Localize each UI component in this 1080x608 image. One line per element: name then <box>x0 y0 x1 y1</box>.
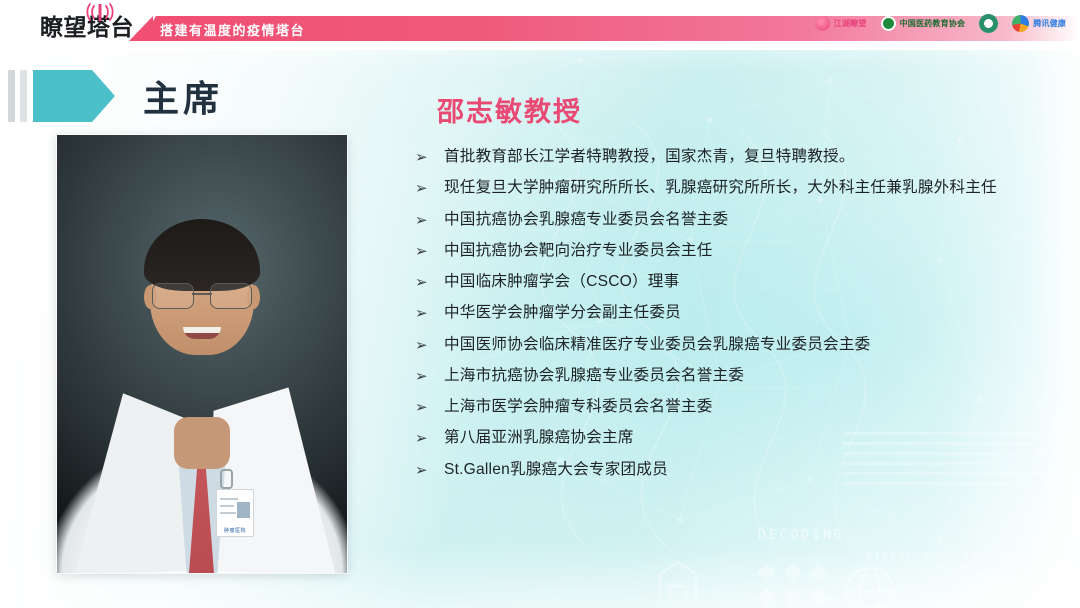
list-item: ➢ 中国抗癌协会乳腺癌专业委员会名誉主委 <box>415 209 1055 232</box>
list-item-label: 现任复旦大学肿瘤研究所所长、乳腺癌研究所所长，大外科主任兼乳腺外科主任 <box>444 177 997 200</box>
list-item: ➢ 中国临床肿瘤学会（CSCO）理事 <box>415 271 1055 294</box>
list-item-label: 中华医学会肿瘤学分会副主任委员 <box>444 302 681 325</box>
list-item: ➢ 现任复旦大学肿瘤研究所所长、乳腺癌研究所所长，大外科主任兼乳腺外科主任 <box>415 177 1055 200</box>
list-item: ➢ 中国抗癌协会靶向治疗专业委员会主任 <box>415 240 1055 263</box>
badge-photo <box>237 502 250 518</box>
bullet-arrow-icon: ➢ <box>415 209 444 232</box>
partner-logo-jianghu-label: 江湖瞭望 <box>834 18 867 29</box>
badge-hospital-name: 肿瘤医院 <box>217 527 253 534</box>
badge-line-3 <box>220 512 236 514</box>
photo-pen-clip <box>220 469 233 489</box>
speaker-name: 邵志敏教授 <box>437 90 582 129</box>
eyeglass-bridge <box>192 293 212 295</box>
list-item-label: 第八届亚洲乳腺癌协会主席 <box>444 427 634 450</box>
bullet-arrow-icon: ➢ <box>415 427 444 450</box>
bullet-arrow-icon: ➢ <box>415 302 444 325</box>
list-item-label: 中国抗癌协会乳腺癌专业委员会名誉主委 <box>444 209 728 232</box>
badge-line-2 <box>220 505 234 507</box>
header-banner-text: 搭建有温度的疫情塔台 <box>160 20 305 39</box>
list-item: ➢ 首批教育部长江学者特聘教授，国家杰青，复旦特聘教授。 <box>415 146 1055 169</box>
list-item: ➢ 中国医师协会临床精准医疗专业委员会乳腺癌专业委员会主委 <box>415 334 1055 357</box>
speaker-photo: 肿瘤医院 <box>57 135 347 573</box>
list-item-label: 上海市抗癌协会乳腺癌专业委员会名誉主委 <box>444 365 744 388</box>
list-item: ➢ 上海市抗癌协会乳腺癌专业委员会名誉主委 <box>415 365 1055 388</box>
section-title-block: 主席 <box>8 70 223 122</box>
presentation-slide: DECODING 010101 3001 204 010 瞭望塔台 <box>0 0 1080 608</box>
credentials-list: ➢ 首批教育部长江学者特聘教授，国家杰青，复旦特聘教授。 ➢ 现任复旦大学肿瘤研… <box>415 146 1055 490</box>
china-medicine-education-association-logo-icon <box>881 16 896 31</box>
eyeglass-lens-right <box>210 283 252 309</box>
list-item-label: 中国抗癌协会靶向治疗专业委员会主任 <box>444 240 713 263</box>
partner-logo-jianghu: 江湖瞭望 <box>815 16 867 31</box>
photo-teeth <box>183 327 221 333</box>
list-item-label: 中国临床肿瘤学会（CSCO）理事 <box>444 271 679 294</box>
bullet-arrow-icon: ➢ <box>415 459 444 482</box>
list-item: ➢ St.Gallen乳腺癌大会专家团成员 <box>415 459 1055 482</box>
bullet-arrow-icon: ➢ <box>415 240 444 263</box>
section-bar-2 <box>20 70 27 122</box>
tencent-health-logo-icon <box>1012 15 1029 32</box>
partner-logo-row: 江湖瞭望 中国医药教育协会 腾讯健康 <box>815 14 1066 33</box>
partner-logo-emblem <box>979 14 998 33</box>
photo-eyeglasses <box>152 283 252 308</box>
circular-emblem-logo-icon <box>979 14 998 33</box>
list-item-label: 首批教育部长江学者特聘教授，国家杰青，复旦特聘教授。 <box>444 146 855 169</box>
partner-logo-tencent-health: 腾讯健康 <box>1012 15 1066 32</box>
partner-logo-cmea: 中国医药教育协会 <box>881 16 966 31</box>
eyeglass-lens-left <box>152 283 194 309</box>
photo-neck <box>174 417 230 469</box>
page-title: 主席 <box>143 70 223 122</box>
signal-tower-icon <box>86 3 114 21</box>
list-item: ➢ 上海市医学会肿瘤专科委员会名誉主委 <box>415 396 1055 419</box>
bullet-arrow-icon: ➢ <box>415 146 444 169</box>
bullet-arrow-icon: ➢ <box>415 334 444 357</box>
list-item: ➢ 第八届亚洲乳腺癌协会主席 <box>415 427 1055 450</box>
section-arrow-shape <box>33 70 115 122</box>
list-item-label: St.Gallen乳腺癌大会专家团成员 <box>444 459 668 482</box>
list-item-label: 中国医师协会临床精准医疗专业委员会乳腺癌专业委员会主委 <box>444 334 870 357</box>
bullet-arrow-icon: ➢ <box>415 177 444 200</box>
section-bar-1 <box>8 70 15 122</box>
partner-logo-cmea-label: 中国医药教育协会 <box>900 18 966 29</box>
photo-id-badge: 肿瘤医院 <box>216 489 254 537</box>
partner-logo-tencent-health-label: 腾讯健康 <box>1033 18 1066 29</box>
photo-smile <box>183 327 221 339</box>
list-item: ➢ 中华医学会肿瘤学分会副主任委员 <box>415 302 1055 325</box>
slide-header: 瞭望塔台 搭建有温度的疫情塔台 江湖瞭望 中国医药教育协会 <box>0 0 1080 50</box>
bullet-arrow-icon: ➢ <box>415 396 444 419</box>
badge-line-1 <box>220 498 238 500</box>
list-item-label: 上海市医学会肿瘤专科委员会名誉主委 <box>444 396 713 419</box>
jianghu-shouwang-logo-icon <box>815 16 830 31</box>
bullet-arrow-icon: ➢ <box>415 365 444 388</box>
bullet-arrow-icon: ➢ <box>415 271 444 294</box>
